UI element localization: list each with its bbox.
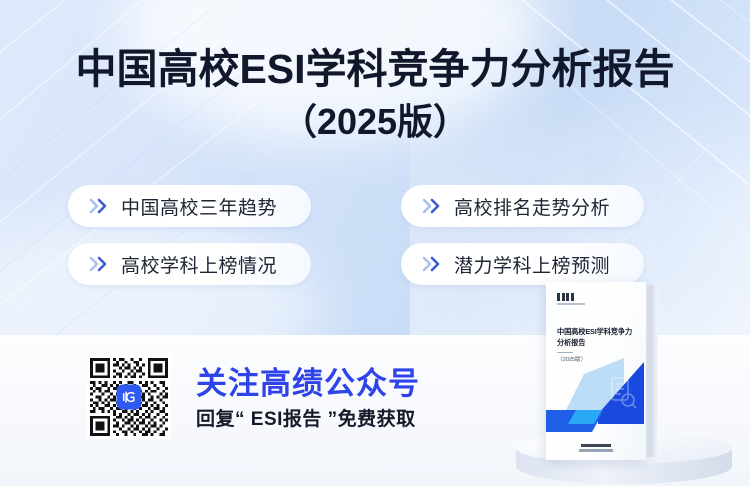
book-object: 中国高校ESI学科竞争力分析报告 （2025版） [546,282,658,460]
feature-pill-2[interactable]: 高校学科上榜情况 [68,243,311,285]
feature-pill-label-0: 中国高校三年趋势 [121,193,277,220]
book-brand-logo-icon [557,293,585,305]
page-title-line-1: 中国高校ESI学科竞争力分析报告 [0,44,750,94]
feature-pill-0[interactable]: 中国高校三年趋势 [68,185,311,227]
book-footer-line-2 [579,449,613,452]
feature-pill-label-1: 高校排名走势分析 [454,193,610,220]
book-mockup: 中国高校ESI学科竞争力分析报告 （2025版） [498,270,750,486]
page-title-line-2: （2025版） [0,98,750,146]
book-cover-footer [579,444,613,452]
book-brand-mark [557,293,585,301]
page-title-block: 中国高校ESI学科竞争力分析报告 （2025版） [0,44,750,146]
book-footer-line-1 [581,444,611,447]
book-cover: 中国高校ESI学科竞争力分析报告 （2025版） [546,282,646,460]
book-cover-graphic [546,344,646,440]
poster-root: 中国高校ESI学科竞争力分析报告 （2025版） 中国高校三年趋势 高校排名走势… [0,0,750,486]
double-chevron-right-icon [421,198,443,214]
feature-pill-1[interactable]: 高校排名走势分析 [401,185,644,227]
double-chevron-right-icon [88,198,110,214]
book-spine [645,285,658,458]
double-chevron-right-icon [88,256,110,272]
cta-text-block: 关注高绩公众号 回复“ ESI报告 ”免费获取 [196,365,420,433]
gaoji-logo-glyph [121,389,138,406]
cta-subline: 回复“ ESI报告 ”免费获取 [196,407,420,433]
double-chevron-right-icon [421,256,443,272]
cta-headline: 关注高绩公众号 [196,365,420,403]
book-brand-underline [557,303,585,305]
feature-pill-label-2: 高校学科上榜情况 [121,251,277,278]
gaoji-logo-icon [117,385,142,410]
qr-code[interactable] [87,355,171,439]
